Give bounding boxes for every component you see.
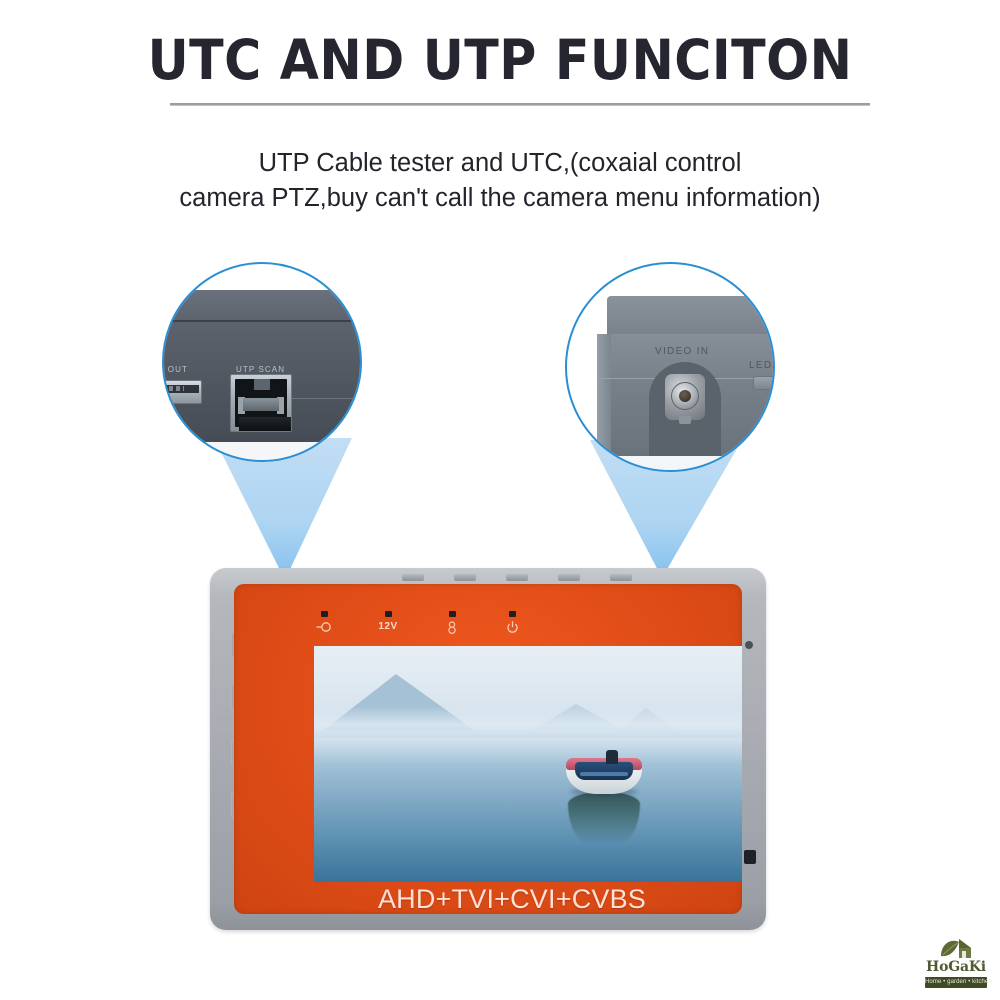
indicator-charge: [302, 611, 346, 633]
voltage-icon: 12V: [366, 621, 410, 632]
logo-tagline: Home • garden • kitchen: [925, 977, 987, 988]
callout-left-photo: V OUT UTP SCAN: [164, 264, 360, 460]
rj45-base: [239, 417, 291, 431]
hogaki-watermark-logo: HoGaKi Home • garden • kitchen: [921, 936, 991, 992]
top-button-3[interactable]: [506, 574, 528, 581]
led-button-label: LED: [749, 360, 772, 371]
usb-out-port-label: V OUT: [162, 365, 188, 374]
rj45-ethernet-jack: [230, 374, 292, 432]
boat-motor: [606, 750, 618, 764]
boat-seat: [580, 772, 628, 776]
product-info-graphic: UTC AND UTP FUNCITON UTP Cable tester an…: [0, 0, 1000, 1000]
rj45-cavity: [235, 379, 287, 427]
scene-water-shimmer: [314, 738, 742, 764]
indicator-power: [490, 611, 534, 634]
callout-right-photo: VIDEO IN LED: [567, 264, 773, 470]
callout-right-background: [567, 456, 775, 472]
side-indicator-dot: [745, 641, 753, 649]
top-button-5[interactable]: [610, 574, 632, 581]
bnc-center-pin: [679, 390, 691, 402]
usb-port-contacts: [162, 386, 184, 391]
rj45-contact-block: [243, 398, 279, 411]
callout-circle-utp-scan: V OUT UTP SCAN: [162, 262, 362, 462]
device-top-face: [607, 296, 775, 336]
indicator-12v: 12V: [366, 611, 410, 632]
device-seam-line: [292, 398, 362, 399]
logo-wordmark: HoGaKi: [921, 959, 991, 975]
logo-tagline-bar: Home • garden • kitchen: [925, 977, 987, 988]
boat-interior: [575, 762, 633, 780]
device-left-edge: [597, 334, 611, 456]
charge-icon: [316, 621, 332, 633]
usb-port: [162, 380, 202, 404]
top-button-4[interactable]: [558, 574, 580, 581]
rj45-notch: [254, 379, 270, 390]
cctv-tester-device: 12V: [210, 568, 766, 934]
scene-haze: [314, 706, 742, 740]
video-in-port-label: VIDEO IN: [655, 346, 709, 357]
top-button-1[interactable]: [402, 574, 424, 581]
led-button: [753, 376, 775, 390]
side-port: [744, 850, 756, 864]
callout-left-background: [162, 442, 362, 462]
utp-scan-port-label: UTP SCAN: [236, 365, 285, 374]
device-bezel: 12V: [234, 584, 742, 914]
callout-circle-video-in: VIDEO IN LED: [565, 262, 775, 472]
power-icon: [506, 621, 519, 634]
led-lamp: [449, 611, 456, 617]
house-leaf-icon: [939, 936, 975, 960]
device-screen: [314, 646, 742, 882]
bnc-stub: [679, 416, 691, 424]
battery-icon: [446, 621, 458, 634]
scene-boat: [564, 750, 644, 800]
led-lamp: [385, 611, 392, 617]
indicator-battery: [430, 611, 474, 634]
top-button-2[interactable]: [454, 574, 476, 581]
device-format-caption: AHD+TVI+CVI+CVBS: [258, 884, 766, 915]
led-lamp: [321, 611, 328, 617]
led-lamp: [509, 611, 516, 617]
